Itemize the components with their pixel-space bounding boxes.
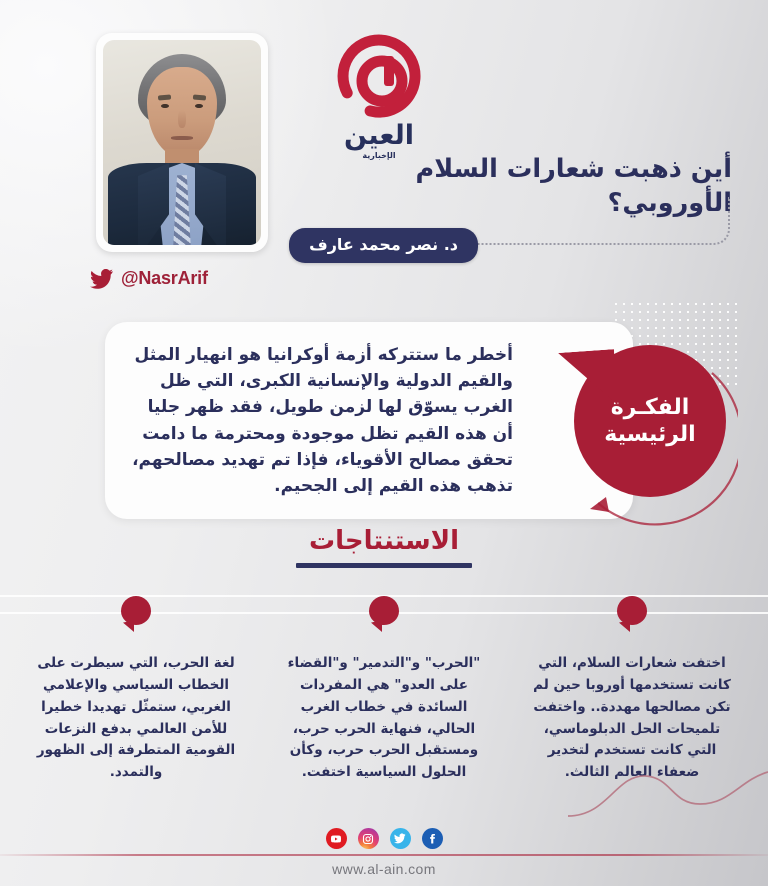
social-links <box>0 828 768 849</box>
footer: www.al-ain.com <box>0 824 768 886</box>
logo-mark-icon <box>337 34 421 118</box>
twitter-icon[interactable] <box>390 828 411 849</box>
youtube-icon[interactable] <box>326 828 347 849</box>
conclusion-item-1: لغة الحرب، التي سيطرت على الخطاب السياسي… <box>12 596 260 784</box>
infographic-canvas: @NasrArif العين الإخبارية أين ذهبت شعارا… <box>0 0 768 886</box>
conclusions-title-text: الاستنتاجات <box>309 526 459 561</box>
footer-divider <box>0 854 768 856</box>
conclusions-heading: الاستنتاجات <box>0 526 768 568</box>
conclusion-item-2: "الحرب" و"التدمير" و"القضاء على العدو" ه… <box>260 596 508 784</box>
conclusion-text-1: لغة الحرب، التي سيطرت على الخطاب السياسي… <box>34 653 238 784</box>
footer-website[interactable]: www.al-ain.com <box>0 861 768 877</box>
facebook-icon[interactable] <box>422 828 443 849</box>
twitter-bird-icon <box>90 269 114 289</box>
speech-bubble-icon <box>369 596 399 625</box>
author-twitter[interactable]: @NasrArif <box>90 268 208 289</box>
conclusion-text-2: "الحرب" و"التدمير" و"القضاء على العدو" ه… <box>282 653 486 784</box>
speech-bubble-icon <box>617 596 647 625</box>
conclusions-columns: اختفت شعارات السلام، التي كانت تستخدمها … <box>12 596 756 784</box>
brand-logo: العين الإخبارية <box>0 34 758 160</box>
conclusion-item-3: اختفت شعارات السلام، التي كانت تستخدمها … <box>508 596 756 784</box>
main-idea-badge-line2: الرئيسية <box>604 421 695 448</box>
main-idea-badge: الفكـرة الرئيسية <box>574 345 726 497</box>
main-idea-card: أخطر ما ستتركه أزمة أوكرانيا هو انهيار ا… <box>105 322 633 519</box>
author-name-badge: د. نصر محمد عارف <box>289 228 478 263</box>
twitter-handle-text: @NasrArif <box>121 268 208 289</box>
page-title: أين ذهبت شعارات السلام الأوروبي؟ <box>312 152 732 220</box>
speech-bubble-icon <box>121 596 151 625</box>
instagram-icon[interactable] <box>358 828 379 849</box>
conclusion-text-3: اختفت شعارات السلام، التي كانت تستخدمها … <box>530 653 734 784</box>
main-idea-quote: أخطر ما ستتركه أزمة أوكرانيا هو انهيار ا… <box>131 342 513 499</box>
conclusions-title-underline <box>296 563 472 568</box>
logo-wordmark: العين <box>344 122 414 149</box>
main-idea-badge-line1: الفكـرة <box>611 394 690 421</box>
